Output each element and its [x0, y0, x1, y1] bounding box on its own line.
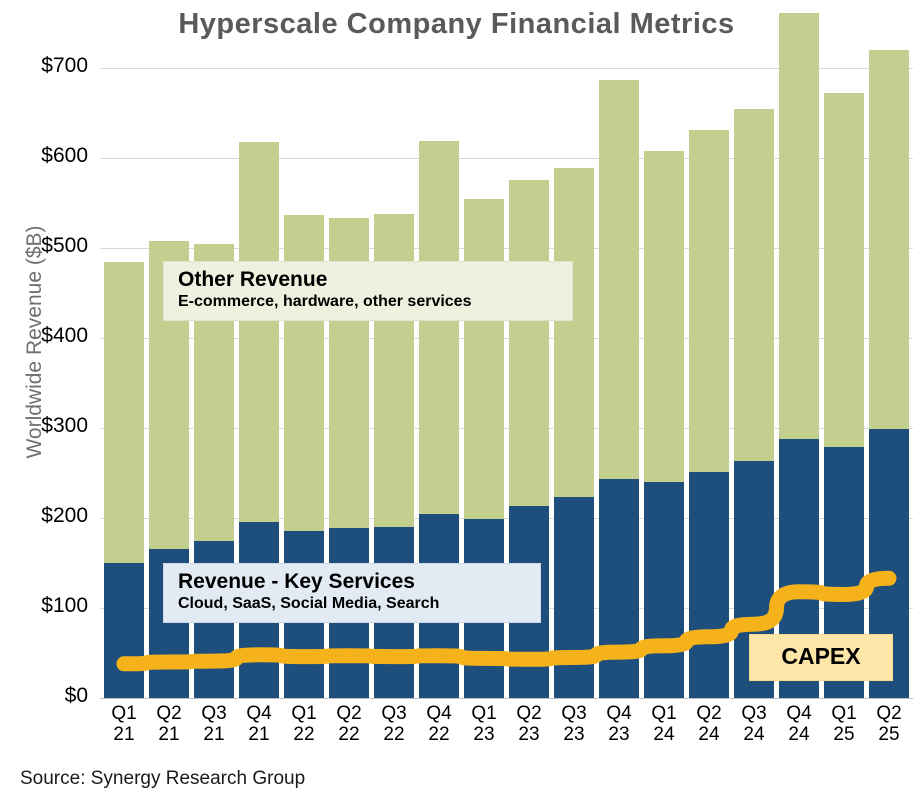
bar-q2-25 [869, 50, 909, 698]
y-tick-700: $700 [10, 54, 88, 78]
x-tick-q4-21: Q421 [235, 703, 283, 746]
y-tick-0: $0 [10, 684, 88, 708]
gridline-0 [100, 698, 913, 699]
x-tick-q3-21: Q321 [190, 703, 238, 746]
x-tick-year: 22 [325, 724, 373, 745]
x-tick-quarter: Q4 [775, 703, 823, 724]
x-tick-quarter: Q4 [415, 703, 463, 724]
x-tick-q4-23: Q423 [595, 703, 643, 746]
x-tick-q4-22: Q422 [415, 703, 463, 746]
x-tick-quarter: Q4 [235, 703, 283, 724]
x-tick-q1-21: Q121 [100, 703, 148, 746]
x-tick-quarter: Q4 [595, 703, 643, 724]
annotation-capex: CAPEX [749, 634, 893, 681]
bar-segment-other-revenue [239, 142, 279, 523]
bar-q1-21 [104, 262, 144, 698]
bar-segment-key-services [554, 497, 594, 698]
bar-q3-24 [734, 109, 774, 699]
bar-segment-other-revenue [464, 199, 504, 519]
bar-segment-other-revenue [644, 151, 684, 482]
x-tick-quarter: Q1 [640, 703, 688, 724]
bar-segment-other-revenue [824, 93, 864, 447]
x-tick-quarter: Q2 [505, 703, 553, 724]
x-tick-quarter: Q2 [325, 703, 373, 724]
bar-segment-key-services [644, 482, 684, 698]
bar-segment-other-revenue [779, 13, 819, 439]
x-tick-q1-24: Q124 [640, 703, 688, 746]
x-tick-year: 21 [100, 724, 148, 745]
bar-segment-other-revenue [734, 109, 774, 462]
bar-segment-key-services [689, 472, 729, 698]
bar-q2-24 [689, 130, 729, 698]
bar-q4-23 [599, 80, 639, 698]
x-tick-year: 23 [595, 724, 643, 745]
bar-segment-other-revenue [509, 180, 549, 507]
x-tick-year: 21 [190, 724, 238, 745]
x-tick-year: 24 [730, 724, 778, 745]
y-tick-100: $100 [10, 594, 88, 618]
bar-segment-other-revenue [419, 141, 459, 515]
bar-q1-24 [644, 151, 684, 698]
x-tick-q2-25: Q225 [865, 703, 913, 746]
annotation-key-services-title: Revenue - Key Services [178, 570, 526, 594]
x-tick-year: 23 [505, 724, 553, 745]
x-tick-q3-24: Q324 [730, 703, 778, 746]
x-tick-q1-25: Q125 [820, 703, 868, 746]
x-tick-quarter: Q2 [685, 703, 733, 724]
bar-segment-other-revenue [869, 50, 909, 429]
x-tick-quarter: Q3 [730, 703, 778, 724]
x-tick-quarter: Q1 [820, 703, 868, 724]
bar-segment-other-revenue [104, 262, 144, 563]
annotation-key-services-subtitle: Cloud, SaaS, Social Media, Search [178, 594, 526, 614]
x-tick-quarter: Q3 [190, 703, 238, 724]
x-tick-year: 22 [370, 724, 418, 745]
x-tick-quarter: Q2 [145, 703, 193, 724]
annotation-key-services: Revenue - Key Services Cloud, SaaS, Soci… [163, 563, 541, 623]
bar-segment-other-revenue [554, 168, 594, 497]
x-tick-year: 24 [640, 724, 688, 745]
x-tick-q3-23: Q323 [550, 703, 598, 746]
x-tick-quarter: Q3 [550, 703, 598, 724]
bar-segment-other-revenue [689, 130, 729, 472]
bar-q4-24 [779, 13, 819, 698]
x-tick-year: 22 [415, 724, 463, 745]
x-tick-year: 25 [865, 724, 913, 745]
x-tick-year: 22 [280, 724, 328, 745]
x-tick-q2-22: Q222 [325, 703, 373, 746]
x-tick-quarter: Q1 [460, 703, 508, 724]
y-tick-400: $400 [10, 324, 88, 348]
x-tick-year: 23 [550, 724, 598, 745]
x-tick-quarter: Q1 [100, 703, 148, 724]
annotation-other-revenue-subtitle: E-commerce, hardware, other services [178, 292, 558, 312]
x-tick-q4-24: Q424 [775, 703, 823, 746]
x-tick-year: 25 [820, 724, 868, 745]
bar-segment-other-revenue [599, 80, 639, 480]
x-tick-year: 24 [685, 724, 733, 745]
x-tick-q2-24: Q224 [685, 703, 733, 746]
x-tick-q2-21: Q221 [145, 703, 193, 746]
x-tick-quarter: Q3 [370, 703, 418, 724]
annotation-capex-label: CAPEX [781, 643, 860, 669]
bar-segment-key-services [104, 563, 144, 698]
x-tick-q1-22: Q122 [280, 703, 328, 746]
y-tick-500: $500 [10, 234, 88, 258]
y-tick-200: $200 [10, 504, 88, 528]
x-tick-quarter: Q2 [865, 703, 913, 724]
bar-segment-key-services [599, 479, 639, 698]
bar-q3-23 [554, 168, 594, 698]
annotation-other-revenue-title: Other Revenue [178, 268, 558, 292]
x-tick-year: 23 [460, 724, 508, 745]
x-tick-q1-23: Q123 [460, 703, 508, 746]
x-tick-q3-22: Q322 [370, 703, 418, 746]
x-tick-year: 21 [235, 724, 283, 745]
source-note: Source: Synergy Research Group [20, 768, 305, 790]
bar-q1-25 [824, 93, 864, 698]
x-tick-quarter: Q1 [280, 703, 328, 724]
x-tick-year: 21 [145, 724, 193, 745]
annotation-other-revenue: Other Revenue E-commerce, hardware, othe… [163, 261, 573, 321]
x-tick-year: 24 [775, 724, 823, 745]
x-tick-q2-23: Q223 [505, 703, 553, 746]
y-tick-600: $600 [10, 144, 88, 168]
y-tick-300: $300 [10, 414, 88, 438]
